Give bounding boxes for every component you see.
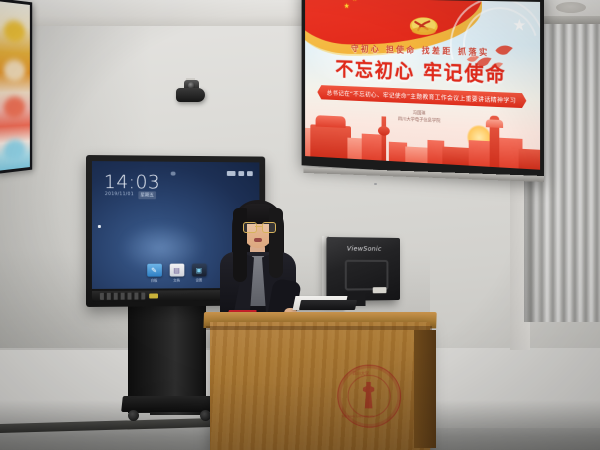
- slide-decor-star: ★: [512, 17, 526, 33]
- seal-top-text: 四川大学: [353, 371, 369, 377]
- smartboard-status-tray[interactable]: [227, 171, 253, 176]
- dock-app-settings[interactable]: ▣ 设置: [192, 264, 207, 283]
- battery-icon[interactable]: [238, 171, 244, 176]
- poster-artwork: [0, 1, 30, 170]
- skyline-tv-tower-mast: [382, 116, 387, 160]
- monitor-brand-logo: ViewSonic: [347, 244, 382, 252]
- smartboard-weekday: 星期五: [138, 191, 155, 199]
- poster-glow-3: [4, 97, 25, 119]
- document-icon[interactable]: ▤: [169, 264, 184, 277]
- flag-star-4: ★: [344, 3, 350, 10]
- smartboard-port-panel[interactable]: [100, 293, 145, 300]
- poster-glow-4: [4, 139, 25, 162]
- skyline-shape: [469, 140, 492, 167]
- cpc-hammer-sickle-icon: [409, 15, 439, 37]
- dock-label: 白板: [147, 278, 162, 283]
- whiteboard-icon[interactable]: ✎: [147, 264, 162, 277]
- wifi-icon[interactable]: [227, 171, 236, 176]
- settings-icon[interactable]: ▣: [192, 264, 207, 277]
- dock-app-document[interactable]: ▤ 文档: [169, 264, 184, 283]
- framed-wall-poster: [0, 0, 32, 174]
- dock-label: 设置: [192, 277, 207, 282]
- glasses-icon: [243, 222, 274, 231]
- smartboard-cloud-icon: [171, 172, 176, 176]
- seal-bottom-text: SICHUAN UNIVERSITY: [341, 414, 374, 418]
- stand-caster: [128, 410, 139, 421]
- smartboard-edge-handle[interactable]: [98, 225, 101, 228]
- slide-skyline-illustration: [305, 100, 540, 170]
- presenter-mouth: [254, 238, 262, 242]
- presenter-hair-right: [269, 208, 283, 278]
- skyline-tiananmen-roof: [316, 115, 346, 128]
- monitor-spec-label: [373, 287, 387, 293]
- slide-canvas: ★ ★ ★ ★ ★ ★: [305, 0, 540, 170]
- dock-label: 文档: [169, 277, 184, 282]
- lecture-hall-screenshot: ★ ★ ★ ★ ★ ★: [0, 0, 600, 450]
- lectern-top-edge: [206, 326, 432, 330]
- skyline-shape: [405, 146, 429, 163]
- flag-star-3: ★: [352, 0, 358, 3]
- skyline-pagoda-roof: [486, 119, 503, 128]
- presenter: [214, 198, 300, 326]
- poster-glow-2: [4, 59, 25, 81]
- lectern-side-panel: [414, 330, 436, 448]
- ceiling-camera-housing: [176, 88, 205, 102]
- skyline-shape: [362, 134, 382, 161]
- dock-app-whiteboard[interactable]: ✎ 白板: [147, 264, 162, 283]
- glasses-lens-right: [262, 222, 276, 233]
- projection-screen[interactable]: ★ ★ ★ ★ ★ ★: [302, 0, 544, 180]
- slide-title: 不忘初心 牢记使命: [305, 52, 540, 88]
- wooden-lectern: 四川大学 SICHUAN UNIVERSITY: [210, 322, 430, 450]
- skyline-tiananmen: [310, 124, 351, 158]
- skyline-shape: [519, 149, 540, 170]
- camera-led-icon: [374, 183, 377, 185]
- poster-glow-1: [4, 20, 25, 43]
- skyline-shape: [442, 147, 470, 166]
- monitor-vesa-mount: [345, 260, 389, 291]
- presenter-hair-left: [233, 208, 247, 282]
- smartboard-clock: 14:03: [104, 171, 160, 193]
- smartboard-sticker: [149, 293, 158, 298]
- ceiling-vent-icon: [556, 2, 586, 13]
- glasses-lens-left: [243, 222, 257, 233]
- university-crest-seal: 四川大学 SICHUAN UNIVERSITY: [337, 365, 401, 428]
- signal-icon[interactable]: [247, 171, 253, 176]
- laptop: [299, 300, 357, 310]
- glasses-bridge: [255, 226, 262, 227]
- smartboard-date: 2019/11/01: [105, 192, 134, 197]
- skyline-tv-tower-sphere: [378, 126, 390, 136]
